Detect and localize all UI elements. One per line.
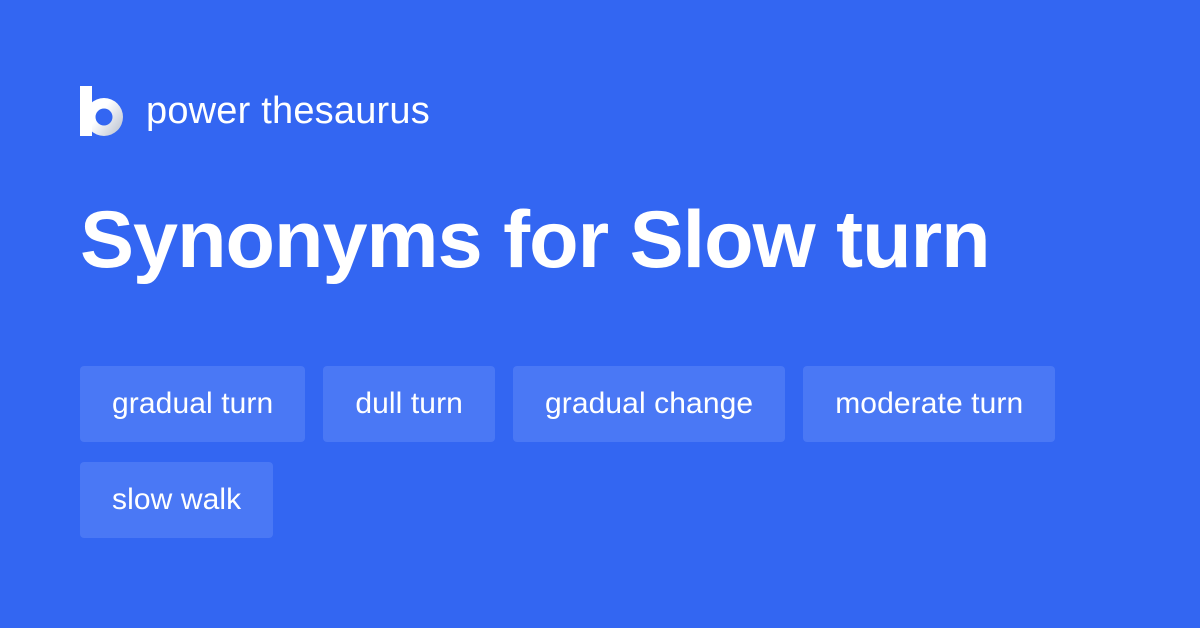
power-thesaurus-b-logo-icon [80, 86, 124, 136]
synonym-chip[interactable]: dull turn [323, 366, 495, 442]
brand-name: power thesaurus [146, 92, 430, 130]
synonym-chip[interactable]: gradual turn [80, 366, 305, 442]
synonym-chip[interactable]: slow walk [80, 462, 273, 538]
brand-header[interactable]: power thesaurus [80, 82, 430, 140]
synonym-chip[interactable]: moderate turn [803, 366, 1055, 442]
synonym-chip-list: gradual turn dull turn gradual change mo… [80, 366, 1140, 538]
synonym-chip[interactable]: gradual change [513, 366, 785, 442]
page-title: Synonyms for Slow turn [80, 198, 1120, 282]
